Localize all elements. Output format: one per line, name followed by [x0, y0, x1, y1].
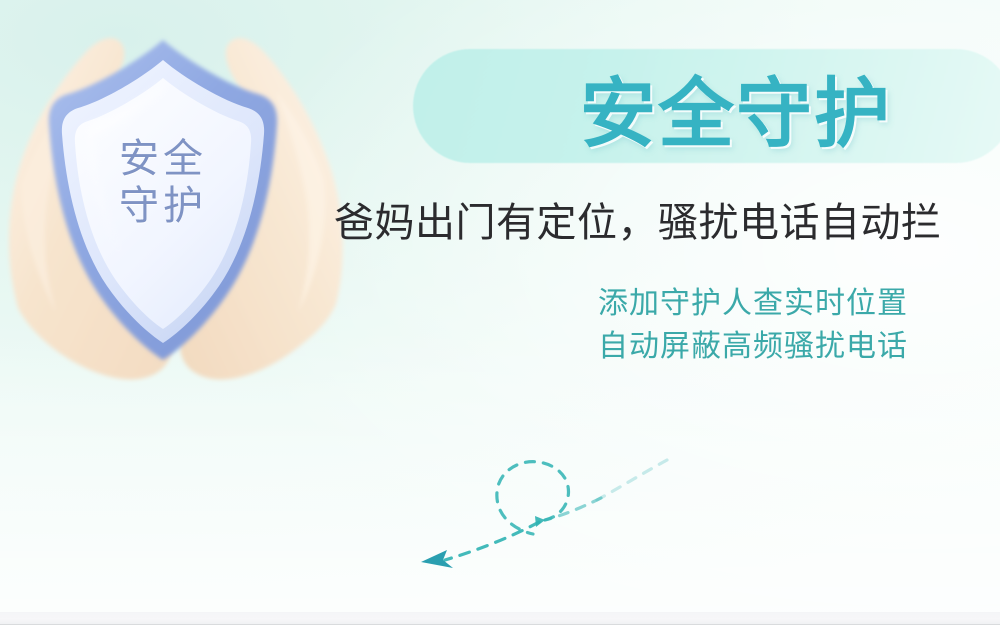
subtitle-text: 爸妈出门有定位，骚扰电话自动拦 — [334, 190, 954, 248]
promo-poster: 安全 守护 安全守护 爸妈出门有定位，骚扰电话自动拦 添加守护人查实时位置 自动… — [0, 0, 1000, 625]
feature-line-2: 自动屏蔽高频骚扰电话 — [598, 326, 908, 369]
dashed-looping-arrow-icon — [405, 438, 685, 588]
hands-holding-shield-illustration: 安全 守护 — [0, 8, 360, 428]
feature-list: 添加守护人查实时位置 自动屏蔽高频骚扰电话 — [598, 283, 908, 368]
feature-line-1: 添加守护人查实时位置 — [598, 283, 908, 326]
page-title: 安全守护 — [580, 52, 960, 162]
